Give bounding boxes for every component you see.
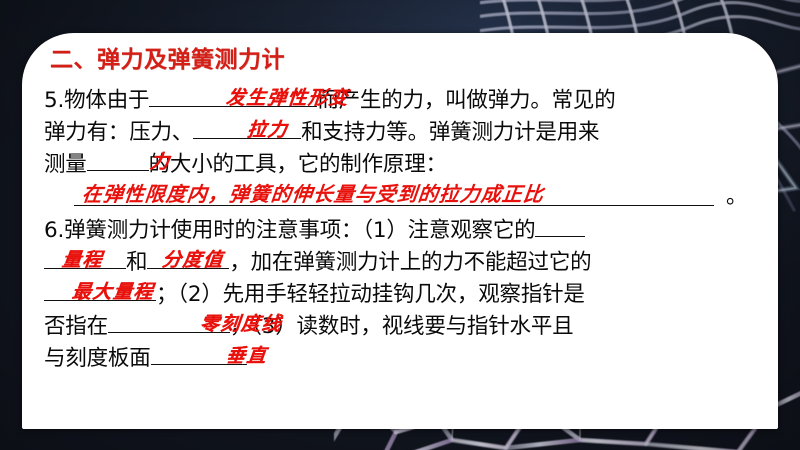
item6-blank-5[interactable] xyxy=(108,307,230,333)
item6-blank-3[interactable] xyxy=(147,243,229,269)
item6-blank-2[interactable] xyxy=(44,243,126,269)
item6-line2-text-a: 和 xyxy=(126,250,147,275)
body-content: 5.物体由于发生弹性形变而产生的力，叫做弹力。常见的 弹力有：压力、拉力和支持力… xyxy=(44,81,774,371)
item6-line1: 6.弹簧测力计使用时的注意事项：（1）注意观察它的 xyxy=(44,211,774,243)
item6-line1-text-a: 6.弹簧测力计使用时的注意事项：（1）注意观察它的 xyxy=(44,218,535,243)
item5-long-answer-row[interactable]: 在弹性限度内，弹簧的伸长量与受到的拉力成正比 。 xyxy=(44,177,774,211)
item6-line3: 最大量程；（2）先用手轻轻拉动挂钩几次，观察指针是 xyxy=(44,275,774,307)
item5-blank-1[interactable] xyxy=(149,81,317,107)
item5-line2-text-a: 弹力有：压力、 xyxy=(44,120,193,145)
item6-blank-6[interactable] xyxy=(151,339,247,365)
item6-line2: 量程和分度值，加在弹簧测力计上的力不能超过它的 xyxy=(44,243,774,275)
item5-line3-text-a: 测量 xyxy=(44,152,87,177)
content-card: 二、弹力及弹簧测力计 5.物体由于发生弹性形变而产生的力，叫做弹力。常见的 弹力… xyxy=(22,33,778,429)
item5-line1-text-a: 5.物体由于 xyxy=(44,88,149,113)
content-card-inner: 二、弹力及弹簧测力计 5.物体由于发生弹性形变而产生的力，叫做弹力。常见的 弹力… xyxy=(22,33,778,429)
item5-long-answer: 在弹性限度内，弹簧的伸长量与受到的拉力成正比 xyxy=(80,178,545,210)
item6-line4-text-b: ，（3）读数时，视线要与指针水平且 xyxy=(230,314,574,339)
item6-line5-text-a: 与刻度板面 xyxy=(44,346,151,371)
item6-line5: 与刻度板面垂直 xyxy=(44,339,774,371)
item5-line1: 5.物体由于发生弹性形变而产生的力，叫做弹力。常见的 xyxy=(44,81,774,113)
item5-line3: 测量力的大小的工具，它的制作原理： xyxy=(44,145,774,177)
item5-blank-3[interactable] xyxy=(87,145,149,171)
item6-line4: 否指在零刻度线，（3）读数时，视线要与指针水平且 xyxy=(44,307,774,339)
item5-line1-text-b: 而产生的力，叫做弹力。常见的 xyxy=(317,88,615,113)
item6-line3-text-a: ；（2）先用手轻轻拉动挂钩几次，观察指针是 xyxy=(156,282,585,307)
item5-line3-text-b: 的大小的工具，它的制作原理： xyxy=(149,152,447,177)
item5-blank-2[interactable] xyxy=(193,113,301,139)
item5-line2-text-b: 和支持力等。弹簧测力计是用来 xyxy=(301,120,599,145)
item5-line2: 弹力有：压力、拉力和支持力等。弹簧测力计是用来 xyxy=(44,113,774,145)
item6-line2-text-b: ，加在弹簧测力计上的力不能超过它的 xyxy=(229,250,591,275)
item6-blank-1[interactable] xyxy=(535,211,585,237)
page-title: 二、弹力及弹簧测力计 xyxy=(50,40,285,74)
slide-root: 二、弹力及弹簧测力计 5.物体由于发生弹性形变而产生的力，叫做弹力。常见的 弹力… xyxy=(0,0,800,450)
item6-line4-text-a: 否指在 xyxy=(44,314,108,339)
item5-long-answer-period: 。 xyxy=(726,181,747,213)
item6-blank-4[interactable] xyxy=(44,275,156,301)
